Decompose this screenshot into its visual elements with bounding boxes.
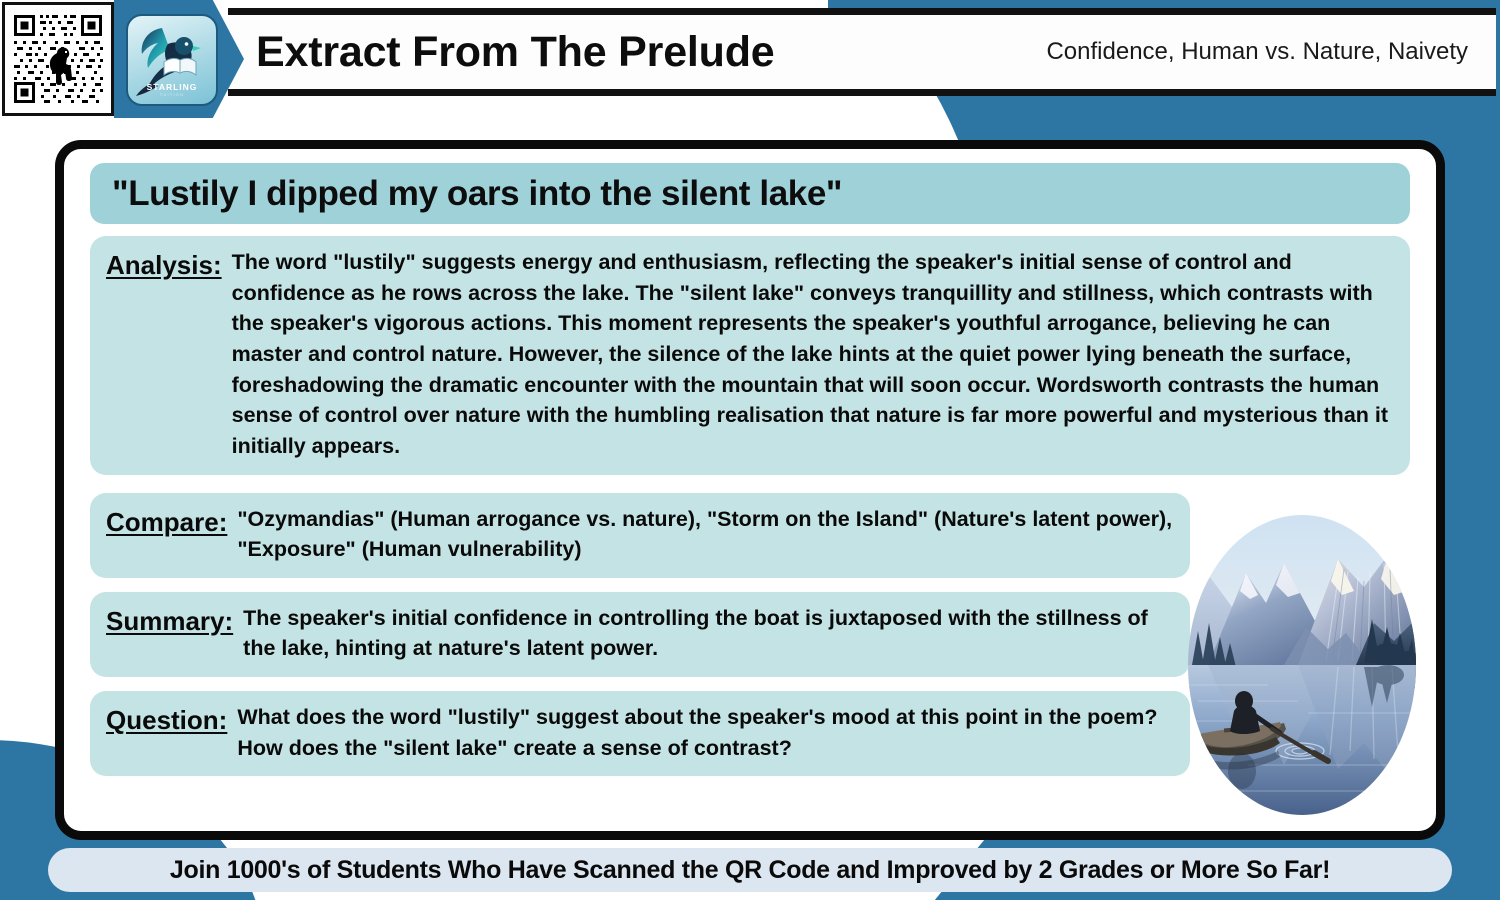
svg-text:STARLING: STARLING bbox=[147, 82, 198, 92]
section-body-question: What does the word "lustily" suggest abo… bbox=[237, 702, 1174, 763]
content-card: "Lustily I dipped my oars into the silen… bbox=[55, 140, 1445, 840]
qr-code[interactable] bbox=[2, 2, 114, 116]
section-analysis: Analysis: The word "lustily" suggests en… bbox=[90, 236, 1410, 474]
quote-banner: "Lustily I dipped my oars into the silen… bbox=[90, 163, 1410, 224]
svg-text:TUITION: TUITION bbox=[160, 92, 184, 97]
poster-header: STARLING TUITION Extract From The Prelud… bbox=[0, 0, 1500, 108]
starling-logo-badge[interactable]: STARLING TUITION bbox=[126, 14, 218, 106]
section-label-summary: Summary: bbox=[106, 603, 233, 638]
section-body-analysis: The word "lustily" suggests energy and e… bbox=[232, 247, 1394, 461]
lake-illustration bbox=[1188, 515, 1416, 815]
title-bar: Extract From The Prelude Confidence, Hum… bbox=[228, 8, 1496, 96]
page-title: Extract From The Prelude bbox=[256, 28, 775, 77]
theme-subtitle: Confidence, Human vs. Nature, Naivety bbox=[1046, 38, 1468, 66]
starling-bird-with-book-icon: STARLING TUITION bbox=[128, 16, 216, 104]
footer-banner: Join 1000's of Students Who Have Scanned… bbox=[48, 848, 1452, 892]
section-summary: Summary: The speaker's initial confidenc… bbox=[90, 592, 1190, 677]
section-body-summary: The speaker's initial confidence in cont… bbox=[243, 603, 1174, 664]
section-body-compare: "Ozymandias" (Human arrogance vs. nature… bbox=[237, 504, 1174, 565]
section-label-compare: Compare: bbox=[106, 504, 227, 539]
footer-text: Join 1000's of Students Who Have Scanned… bbox=[170, 856, 1330, 885]
poster-canvas: STARLING TUITION Extract From The Prelud… bbox=[0, 0, 1500, 900]
section-label-question: Question: bbox=[106, 702, 227, 737]
section-compare: Compare: "Ozymandias" (Human arrogance v… bbox=[90, 493, 1190, 578]
qr-code-icon bbox=[8, 8, 108, 110]
section-label-analysis: Analysis: bbox=[106, 247, 222, 282]
lake-mountains-rower-illustration-icon bbox=[1188, 515, 1416, 815]
section-question: Question: What does the word "lustily" s… bbox=[90, 691, 1190, 776]
